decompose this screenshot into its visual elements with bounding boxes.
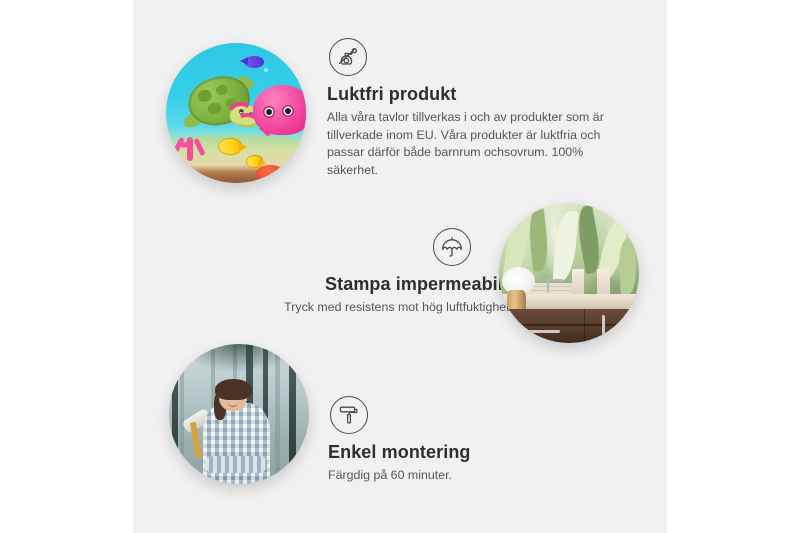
feature-block-waterproof: Stampa impermeabile Tryck med resistens …: [223, 228, 513, 317]
icon-wrapper: [327, 38, 617, 76]
yellow-fish-icon: [218, 138, 242, 155]
woman-forest-wallpaper-circle-image[interactable]: [169, 344, 309, 484]
coral-icon: [172, 127, 211, 161]
forest-scene: [169, 344, 309, 484]
feature-title: Luktfri produkt: [327, 84, 617, 105]
icon-wrapper: [223, 228, 513, 266]
crab-icon: [256, 165, 284, 182]
wood-cabinet: [507, 309, 639, 343]
faucet-icon: [547, 280, 550, 293]
yellow-fish-icon: [246, 155, 263, 168]
blue-fish-icon: [244, 56, 264, 69]
towel: [597, 269, 610, 296]
bathroom-wallpaper-circle-image[interactable]: [499, 203, 639, 343]
feature-block-odourless: Luktfri produkt Alla våra tavlor tillver…: [327, 38, 617, 179]
umbrella-icon: [433, 228, 471, 266]
cabinet-handle: [526, 330, 560, 333]
underwater-scene: [166, 43, 306, 183]
bathroom-scene: [499, 203, 639, 343]
underwater-cartoon-circle-image[interactable]: [166, 43, 306, 183]
feature-description: Alla våra tavlor tillverkas i och av pro…: [327, 109, 617, 179]
paint-roller-icon: [330, 396, 368, 434]
feature-description: Tryck med resistens mot hög luftfuktighe…: [223, 299, 513, 317]
no-fragrance-icon: [329, 38, 367, 76]
feature-description: Färgdig på 60 minuter.: [328, 467, 618, 485]
feature-title: Enkel montering: [328, 442, 618, 463]
octopus-head: [253, 85, 306, 135]
icon-wrapper: [328, 396, 618, 434]
feature-block-assembly: Enkel montering Färgdig på 60 minuter.: [328, 396, 618, 485]
content-panel: Luktfri produkt Alla våra tavlor tillver…: [133, 0, 667, 533]
cabinet-handle: [602, 315, 605, 334]
feature-title: Stampa impermeabile: [223, 274, 513, 295]
woman-hair: [215, 379, 251, 400]
woman-crossed-arms: [205, 456, 267, 473]
towel: [572, 269, 585, 296]
